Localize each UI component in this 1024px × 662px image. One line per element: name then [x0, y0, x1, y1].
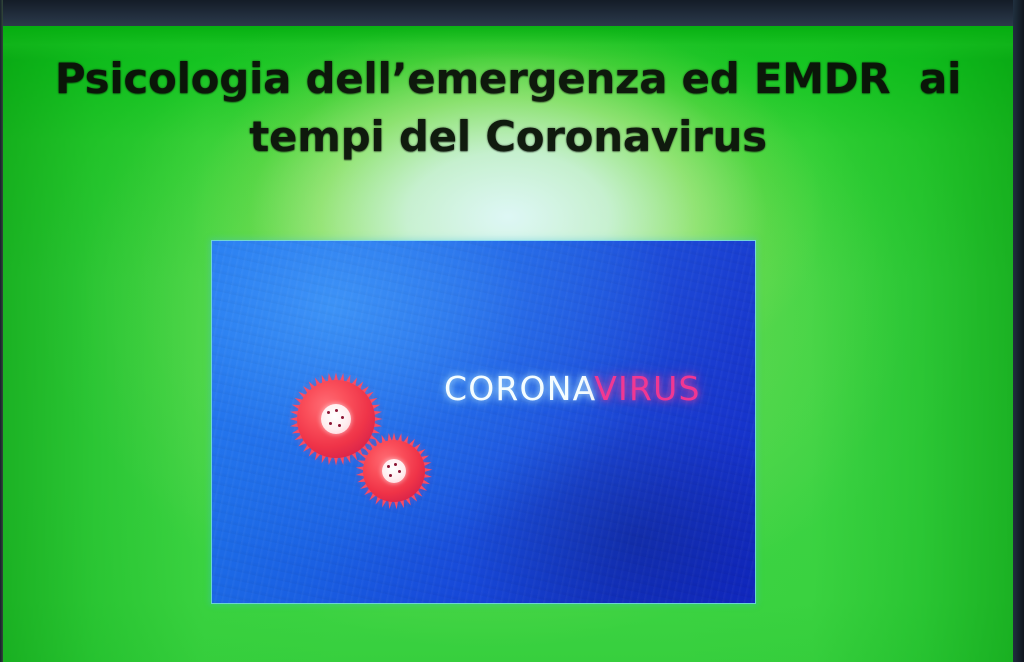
- wordmark-virus: VIRUS: [594, 369, 700, 408]
- virus-core: [321, 404, 351, 434]
- virus-core-dot: [389, 474, 392, 477]
- slide-title-line-1: Psicologia dell’emergenza ed EMDR ai: [3, 50, 1013, 108]
- virus-core-dot: [394, 463, 397, 466]
- screen-bezel-right: [1013, 0, 1024, 662]
- virus-core-dot: [335, 409, 338, 412]
- virus-core-dot: [327, 411, 330, 414]
- virus-core-dot: [341, 416, 344, 419]
- projected-slide-photo: Psicologia dell’emergenza ed EMDR ai tem…: [0, 0, 1024, 662]
- virus-core-dot: [338, 424, 341, 427]
- presentation-slide: Psicologia dell’emergenza ed EMDR ai tem…: [3, 26, 1013, 662]
- virus-core-dot: [398, 470, 401, 473]
- slide-title-line-2: tempi del Coronavirus: [3, 108, 1013, 166]
- virus-core-dot: [329, 422, 332, 425]
- screen-bezel-top: [0, 0, 1024, 26]
- coronavirus-wordmark: CORONAVIRUS: [444, 369, 701, 408]
- coronavirus-image: CORONAVIRUS: [212, 241, 755, 603]
- small-virus-particle: [363, 440, 425, 502]
- virus-core-dot: [387, 465, 390, 468]
- wordmark-corona: CORONA: [444, 369, 594, 408]
- virus-core: [382, 459, 406, 483]
- slide-title: Psicologia dell’emergenza ed EMDR ai tem…: [3, 50, 1013, 166]
